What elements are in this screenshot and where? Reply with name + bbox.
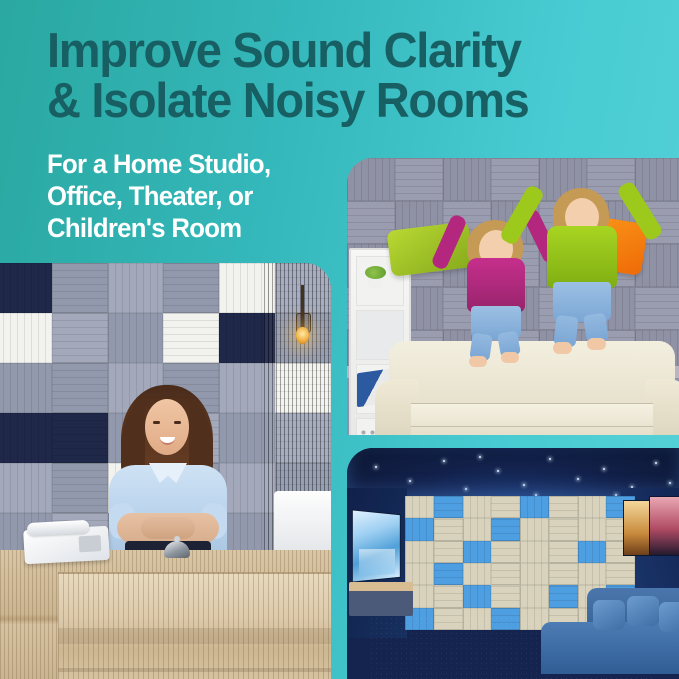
subheadline-line-3: Children's Room <box>47 212 629 244</box>
subheadline-line-2: Office, Theater, or <box>47 180 629 212</box>
movie-poster-right <box>649 496 679 556</box>
tv-console <box>349 582 413 616</box>
pendant-bulb <box>301 285 304 329</box>
acoustic-tile <box>520 541 549 563</box>
service-bell <box>164 538 190 559</box>
pink-top <box>467 258 525 312</box>
headline-line-1: Improve Sound Clarity <box>47 24 521 78</box>
page-title: Improve Sound Clarity & Isolate Noisy Ro… <box>47 26 623 126</box>
reception-desk <box>0 550 331 679</box>
acoustic-tile <box>463 563 492 585</box>
acoustic-tile <box>163 313 219 363</box>
reception-office-photo <box>0 263 331 679</box>
desk-front-panel <box>58 572 331 679</box>
acoustic-tile <box>578 518 607 540</box>
acoustic-tile <box>463 541 492 563</box>
acoustic-tile <box>0 263 52 313</box>
acoustic-tile <box>520 563 549 585</box>
acoustic-tile <box>434 541 463 563</box>
acoustic-tile <box>549 541 578 563</box>
television <box>352 509 401 582</box>
acoustic-tile <box>163 263 219 313</box>
desk-trim-lower <box>58 668 331 672</box>
acoustic-tile <box>405 518 434 540</box>
acoustic-tile <box>108 263 164 313</box>
throw-pillow <box>593 600 625 630</box>
acoustic-tile <box>578 541 607 563</box>
acoustic-tile <box>463 496 492 518</box>
acoustic-tile <box>520 518 549 540</box>
foot-left <box>553 342 572 354</box>
acoustic-tile <box>635 287 679 330</box>
acoustic-tile <box>0 463 52 513</box>
sofa-seat <box>411 403 653 435</box>
acoustic-tile <box>520 496 549 518</box>
foot-right <box>501 352 519 363</box>
acoustic-tile <box>434 496 463 518</box>
acoustic-tile <box>52 363 108 413</box>
product-banner: Improve Sound Clarity & Isolate Noisy Ro… <box>0 0 679 679</box>
foot-left <box>469 356 487 367</box>
acoustic-tile <box>52 313 108 363</box>
acoustic-tile <box>434 563 463 585</box>
potted-plant <box>365 266 385 288</box>
blue-sectional-sofa <box>541 588 679 679</box>
desk-trim <box>58 628 331 644</box>
acoustic-tile <box>549 518 578 540</box>
acoustic-tile <box>434 518 463 540</box>
acoustic-tile <box>463 518 492 540</box>
acoustic-tile <box>0 363 52 413</box>
headline-block: Improve Sound Clarity & Isolate Noisy Ro… <box>47 26 647 244</box>
acoustic-tile <box>491 541 520 563</box>
throw-pillow <box>627 596 659 626</box>
home-theater-photo <box>347 448 679 679</box>
acoustic-tile <box>52 413 108 463</box>
acoustic-tile <box>578 496 607 518</box>
acoustic-tile <box>405 496 434 518</box>
acoustic-tile <box>52 263 108 313</box>
acoustic-tile <box>463 585 492 607</box>
reception-scene <box>0 263 331 679</box>
acoustic-tile <box>434 585 463 607</box>
lamp-cage-icon <box>296 313 311 333</box>
home-theater-scene <box>347 448 679 679</box>
acoustic-tile <box>108 313 164 363</box>
acoustic-tile <box>0 413 52 463</box>
acoustic-tile <box>549 563 578 585</box>
acoustic-tile <box>578 563 607 585</box>
receptionist-person <box>109 385 227 557</box>
desk-phone <box>23 526 110 564</box>
acoustic-tile <box>0 313 52 363</box>
acoustic-tile <box>52 463 108 513</box>
acoustic-tile <box>491 585 520 607</box>
foot-right <box>587 338 606 350</box>
subheadline: For a Home Studio, Office, Theater, or C… <box>47 148 629 244</box>
acoustic-tile <box>549 496 578 518</box>
acoustic-tile <box>491 518 520 540</box>
monitor <box>274 491 331 553</box>
acoustic-tile <box>491 563 520 585</box>
subheadline-line-1: For a Home Studio, <box>47 148 629 180</box>
headline-line-2: & Isolate Noisy Rooms <box>47 76 623 126</box>
acoustic-tile <box>491 496 520 518</box>
acoustic-tile <box>606 563 635 585</box>
acoustic-tile <box>405 541 434 563</box>
throw-pillow <box>659 602 679 632</box>
